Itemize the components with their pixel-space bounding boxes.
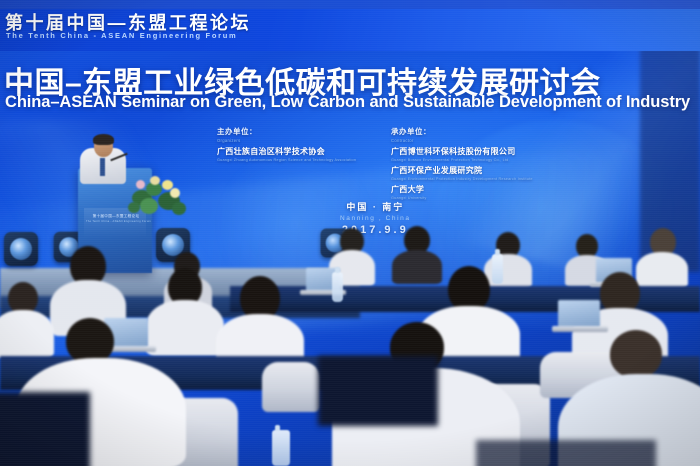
venue-city-cn: 中国 · 南宁	[340, 200, 411, 213]
stage-light	[4, 232, 38, 266]
water-bottle	[492, 254, 503, 284]
co-organizers-label-en: Contractor	[391, 138, 533, 143]
co-organizer-name-en-1: Guangxi Bossco Environmental Protection …	[391, 158, 533, 162]
foreground-shadow-left	[0, 392, 90, 466]
co-organizer-name-cn-3: 广西大学	[391, 184, 533, 195]
seminar-title-english: China–ASEAN Seminar on Green, Low Carbon…	[5, 93, 700, 112]
backdrop-header-glow	[300, 9, 700, 51]
flower-arrangement	[126, 172, 188, 222]
laptop-base	[552, 326, 608, 332]
water-bottle	[272, 430, 290, 466]
co-organizer-name-en-2: Guangxi Environmental Protection Industr…	[391, 177, 533, 181]
organizers-block: 主办单位： Organizers 广西壮族自治区科学技术协会 Guangxi Z…	[217, 126, 356, 162]
organizers-label-cn: 主办单位：	[217, 126, 356, 137]
speaker-tie	[100, 158, 105, 176]
organizer-name-en: Guangxi Zhuang Autonomous Region Science…	[217, 158, 356, 162]
laptop-screen	[558, 300, 600, 328]
co-organizer-name-cn-2: 广西环保产业发展研究院	[391, 165, 533, 176]
organizers-label-en: Organizers	[217, 138, 356, 143]
co-organizer-name-en-3: Guangxi University	[391, 196, 533, 200]
co-organizers-label-cn: 承办单位：	[391, 126, 533, 137]
co-organizer-name-cn-1: 广西博世科环保科技股份有限公司	[391, 146, 533, 157]
water-bottle	[332, 272, 343, 302]
venue-city-en: Nanning , China	[340, 215, 411, 222]
organizer-name-cn: 广西壮族自治区科学技术协会	[217, 146, 356, 157]
ceiling-shadow	[0, 0, 700, 9]
forum-title-english: The Tenth China - ASEAN Engineering Foru…	[6, 31, 237, 40]
foreground-shadow-right	[476, 440, 656, 466]
chair	[262, 362, 320, 412]
co-organizers-block: 承办单位： Contractor 广西博世科环保科技股份有限公司 Guangxi…	[391, 126, 533, 200]
conference-photo: 第十届中国—东盟工程论坛 The Tenth China - ASEAN Eng…	[0, 0, 700, 466]
speaker-hair	[93, 134, 114, 145]
foreground-shadow-mid	[318, 356, 438, 426]
